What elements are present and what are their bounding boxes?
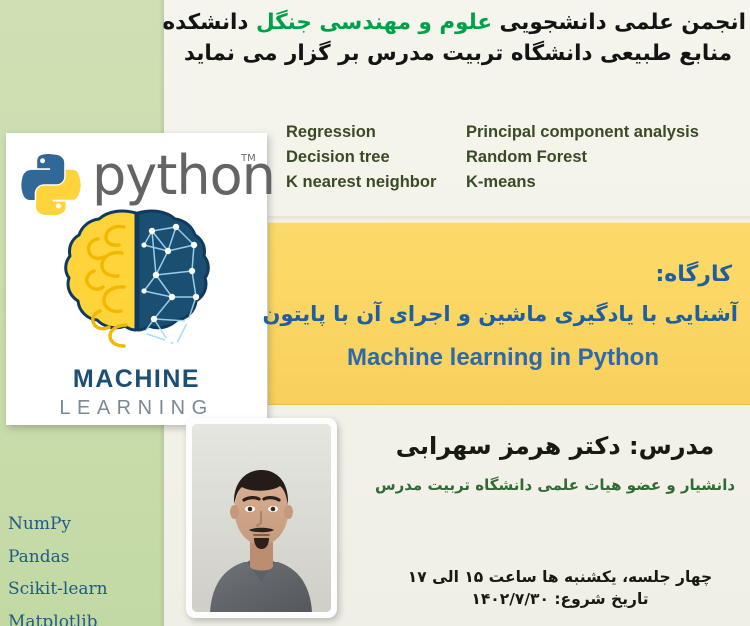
header-line1-text-a: انجمن علمی دانشجویی (492, 10, 746, 35)
ml-topics-list: Regression Decision tree K nearest neigh… (286, 120, 750, 195)
topic-item: Decision tree (286, 145, 466, 170)
instructor-subtitle: دانشیار و عضو هیات علمی دانشگاه تربیت مد… (370, 476, 740, 494)
workshop-poster: انجمن علمی دانشجویی علوم و مهندسی جنگل د… (0, 0, 750, 626)
ai-brain-icon (64, 205, 210, 368)
header-line1-highlight-b: جنگل (256, 10, 312, 35)
instructor-name: مدرس: دکتر هرمز سهرابی (370, 432, 740, 460)
workshop-title-english: Machine learning in Python (268, 344, 738, 372)
instructor-photo (192, 424, 331, 612)
instructor-photo-frame (186, 418, 337, 618)
header-line-1: انجمن علمی دانشجویی علوم و مهندسی جنگل د… (170, 8, 746, 39)
topic-item: K-means (466, 170, 750, 195)
header-line1-highlight-a: علوم و مهندسی (319, 10, 492, 35)
header-line-2: منابع طبیعی دانشگاه تربیت مدرس بر گزار م… (170, 39, 746, 70)
topic-item: Principal component analysis (466, 120, 750, 145)
library-item: Scikit-learn (8, 573, 158, 606)
topic-item: K nearest neighbor (286, 170, 466, 195)
learning-label: LEARNING (6, 397, 267, 420)
schedule-start-date: تاریخ شروع: ۱۴۰۲/۷/۳۰ (380, 588, 740, 610)
machine-label: MACHINE (6, 365, 267, 394)
poster-header: انجمن علمی دانشجویی علوم و مهندسی جنگل د… (170, 8, 746, 69)
schedule-sessions: چهار جلسه، یکشنبه ها ساعت ۱۵ الی ۱۷ (380, 566, 740, 588)
library-item: NumPy (8, 508, 158, 541)
workshop-title-persian: آشنایی با یادگیری ماشین و اجرای آن با پا… (268, 302, 738, 326)
python-machine-learning-card: python TM (6, 133, 267, 425)
library-item: Matplotlib (8, 606, 158, 626)
topic-item: Random Forest (466, 145, 750, 170)
header-line1-text-b: دانشکده (162, 10, 255, 35)
schedule-block: چهار جلسه، یکشنبه ها ساعت ۱۵ الی ۱۷ تاری… (380, 566, 740, 611)
topic-item: Regression (286, 120, 466, 145)
python-libraries-list: NumPy Pandas Scikit-learn Matplotlib (8, 508, 158, 626)
ml-topics-column-2: Principal component analysis Random Fore… (466, 120, 750, 195)
trademark-icon: TM (241, 153, 256, 164)
workshop-label: کارگاه: (655, 262, 732, 287)
library-item: Pandas (8, 541, 158, 574)
ml-topics-column-1: Regression Decision tree K nearest neigh… (286, 120, 466, 195)
